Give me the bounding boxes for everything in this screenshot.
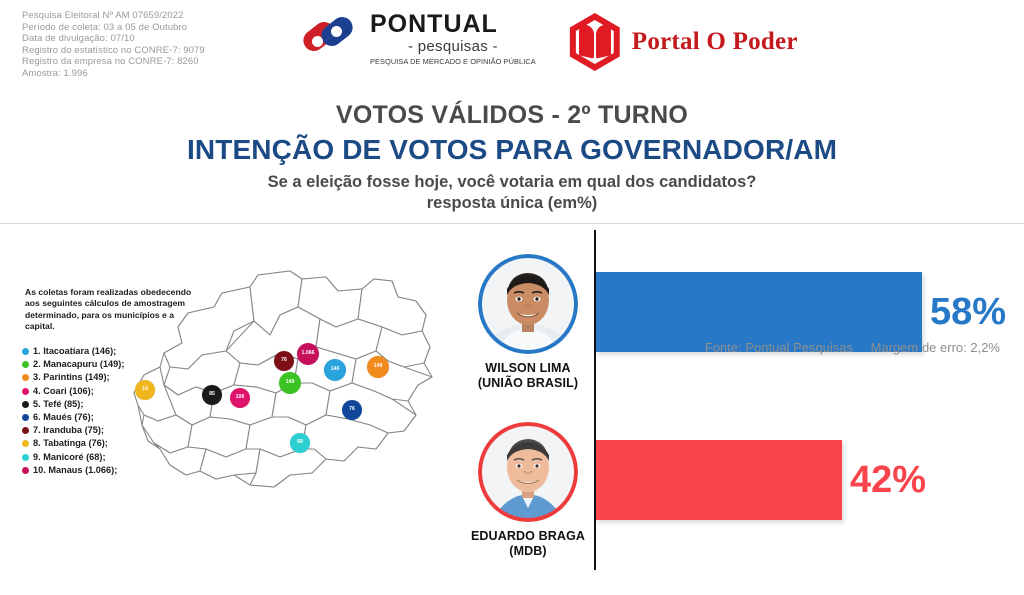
- map-marker-value: 149: [286, 380, 295, 385]
- legend-label: 1. Itacoatiara (146);: [33, 345, 116, 358]
- pontual-logo-subtitle: - pesquisas -: [370, 39, 536, 54]
- map-marker-manacapuru[interactable]: 149: [279, 372, 301, 394]
- legend-label: 10. Manaus (1.066);: [33, 464, 117, 477]
- map-marker-manaus[interactable]: 1.066: [297, 343, 319, 365]
- header-banner: Pesquisa Eleitoral Nº AM 07659/2022 Perí…: [0, 0, 1024, 224]
- survey-meta-line: Registro da empresa no CONRE-7: 8260: [22, 56, 205, 68]
- candidate-name-wilson-lima: WILSON LIMA (UNIÃO BRASIL): [453, 361, 603, 391]
- chart-supertitle: VOTOS VÁLIDOS - 2º TURNO: [0, 101, 1024, 130]
- amazonas-state-map: 14 85 106 76 1.066 149 146 149 76 68: [130, 235, 450, 535]
- legend-label: 4. Coari (106);: [33, 385, 94, 398]
- legend-label: 9. Manicoré (68);: [33, 451, 106, 464]
- map-marker-tefe[interactable]: 85: [202, 385, 222, 405]
- legend-label: 6. Maués (76);: [33, 411, 94, 424]
- legend-color-dot: [22, 427, 29, 434]
- survey-meta-line: Data de divulgação: 07/10: [22, 33, 205, 45]
- map-marker-value: 68: [297, 440, 303, 445]
- footer-source: Fonte: Pontual Pesquisas: [705, 340, 853, 355]
- survey-metadata: Pesquisa Eleitoral Nº AM 07659/2022 Perí…: [22, 10, 205, 80]
- legend-color-dot: [22, 454, 29, 461]
- legend-color-dot: [22, 414, 29, 421]
- candidate-party: (UNIÃO BRASIL): [478, 376, 578, 390]
- map-marker-value: 149: [374, 364, 383, 369]
- candidate-party: (MDB): [509, 544, 546, 558]
- avatar-wilson-lima: [478, 254, 578, 354]
- candidate-fullname: WILSON LIMA: [485, 361, 570, 375]
- chart-footer: Fonte: Pontual Pesquisas Margem de erro:…: [705, 340, 1000, 355]
- map-marker-parintins[interactable]: 149: [367, 356, 389, 378]
- avatar-ring: [478, 422, 578, 522]
- map-marker-value: 76: [281, 358, 287, 363]
- pontual-pesquisas-logo: PONTUAL - pesquisas - PESQUISA DE MERCAD…: [300, 12, 536, 65]
- portal-o-poder-hexagon-icon: [566, 13, 624, 71]
- candidate-block-wilson-lima: WILSON LIMA (UNIÃO BRASIL): [453, 254, 603, 391]
- survey-meta-line: Registro do estatístico no CONRE-7: 9079: [22, 45, 205, 57]
- survey-meta-line: Período de coleta: 03 a 05 de Outubro: [22, 22, 205, 34]
- survey-meta-line: Amostra: 1.996: [22, 68, 205, 80]
- survey-meta-line: Pesquisa Eleitoral Nº AM 07659/2022: [22, 10, 205, 22]
- pontual-logo-icon: [300, 14, 362, 64]
- map-marker-value: 76: [349, 407, 355, 412]
- legend-label: 8. Tabatinga (76);: [33, 437, 108, 450]
- footer-margin-of-error: Margem de erro: 2,2%: [871, 340, 1000, 355]
- chart-question-line2: resposta única (em%): [0, 194, 1024, 213]
- pontual-logo-name: PONTUAL: [370, 12, 536, 37]
- bar-value-wilson-lima: 58%: [930, 293, 1006, 331]
- portal-o-poder-logo: Portal O Poder: [566, 13, 798, 71]
- map-marker-manicore[interactable]: 68: [290, 433, 310, 453]
- pontual-logo-tagline: PESQUISA DE MERCADO E OPINIÃO PÚBLICA: [370, 58, 536, 65]
- legend-color-dot: [22, 361, 29, 368]
- legend-color-dot: [22, 467, 29, 474]
- legend-label: 3. Parintins (149);: [33, 371, 110, 384]
- map-marker-value: 14: [142, 387, 148, 392]
- map-marker-value: 146: [331, 367, 340, 372]
- map-marker-value: 85: [209, 392, 215, 397]
- legend-color-dot: [22, 348, 29, 355]
- legend-label: 5. Tefé (85);: [33, 398, 83, 411]
- candidate-fullname: EDUARDO BRAGA: [471, 529, 585, 543]
- map-marker-tabatinga[interactable]: 14: [135, 380, 155, 400]
- candidate-name-eduardo-braga: EDUARDO BRAGA (MDB): [453, 529, 603, 559]
- avatar-eduardo-braga: [478, 422, 578, 522]
- logo-row: PONTUAL - pesquisas - PESQUISA DE MERCAD…: [300, 12, 730, 84]
- portal-o-poder-name: Portal O Poder: [632, 28, 798, 56]
- bar-value-eduardo-braga: 42%: [850, 461, 926, 499]
- chart-question-line1: Se a eleição fosse hoje, você votaria em…: [0, 173, 1024, 192]
- legend-label: 7. Iranduba (75);: [33, 424, 104, 437]
- candidate-block-eduardo-braga: EDUARDO BRAGA (MDB): [453, 422, 603, 559]
- page-title: INTENÇÃO DE VOTOS PARA GOVERNADOR/AM: [0, 134, 1024, 166]
- legend-color-dot: [22, 374, 29, 381]
- map-marker-value: 106: [236, 395, 245, 400]
- avatar-ring: [478, 254, 578, 354]
- legend-label: 2. Manacapuru (149);: [33, 358, 124, 371]
- map-marker-iranduba[interactable]: 76: [274, 351, 294, 371]
- legend-color-dot: [22, 440, 29, 447]
- map-marker-coari[interactable]: 106: [230, 388, 250, 408]
- legend-color-dot: [22, 388, 29, 395]
- bar-eduardo-braga: [596, 440, 842, 520]
- map-marker-itacoatiara[interactable]: 146: [324, 359, 346, 381]
- legend-color-dot: [22, 401, 29, 408]
- map-marker-value: 1.066: [302, 351, 315, 356]
- map-marker-maues[interactable]: 76: [342, 400, 362, 420]
